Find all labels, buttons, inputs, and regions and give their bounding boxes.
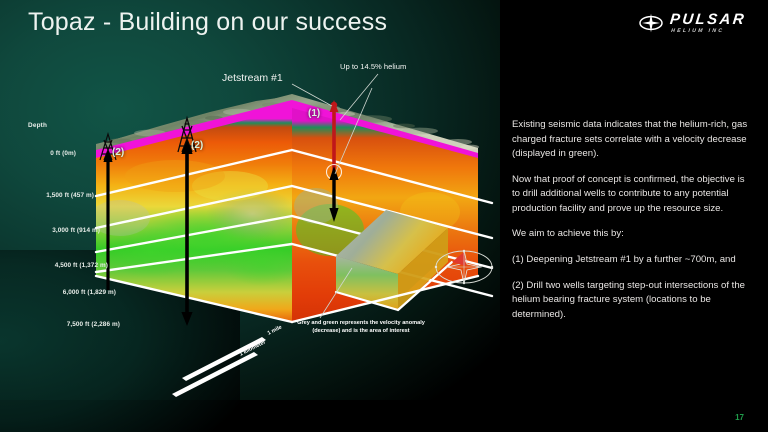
page-number: 17 <box>735 413 744 422</box>
depth-label-4500ft: 4,500 ft (1,372 m) <box>12 262 108 269</box>
narrative-paragraph-3: We aim to achieve this by: <box>512 227 750 242</box>
annotation-helium-grade: Up to 14.5% helium <box>340 62 406 71</box>
logo-subtitle: HELIUM INC <box>671 29 725 34</box>
depth-label-6000ft: 6,000 ft (1,829 m) <box>20 289 116 296</box>
narrative-paragraph-5: (2) Drill two wells targeting step-out i… <box>512 279 750 323</box>
slide-root: Topaz - Building on our success PULSAR H… <box>0 0 768 432</box>
depth-label-0ft: 0 ft (0m) <box>6 150 76 157</box>
narrative-paragraph-1: Existing seismic data indicates that the… <box>512 118 750 162</box>
velocity-anomaly-caption: Grey and green represents the velocity a… <box>296 320 426 336</box>
well-marker-2-left: (2) <box>112 147 124 158</box>
well-marker-1: (1) <box>308 108 320 119</box>
page-title: Topaz - Building on our success <box>28 8 387 37</box>
depth-label-1500ft: 1,500 ft (457 m) <box>6 192 94 199</box>
logo-wordmark: PULSAR HELIUM INC <box>670 12 746 34</box>
depth-label-7500ft: 7,500 ft (2,286 m) <box>24 321 120 328</box>
well-marker-2-right: (2) <box>191 140 203 151</box>
pulsar-star-icon <box>638 13 664 33</box>
background-green-glow-lower <box>0 250 240 432</box>
narrative-paragraph-4: (1) Deepening Jetstream #1 by a further … <box>512 253 750 268</box>
logo-name: PULSAR <box>669 12 747 27</box>
narrative-paragraph-2: Now that proof of concept is confirmed, … <box>512 173 750 217</box>
annotation-jetstream-label: Jetstream #1 <box>222 72 283 84</box>
depth-scale-heading: Depth <box>28 122 47 129</box>
depth-label-3000ft: 3,000 ft (914 m) <box>12 227 100 234</box>
narrative-text-column: Existing seismic data indicates that the… <box>512 118 750 322</box>
brand-logo: PULSAR HELIUM INC <box>638 12 746 34</box>
